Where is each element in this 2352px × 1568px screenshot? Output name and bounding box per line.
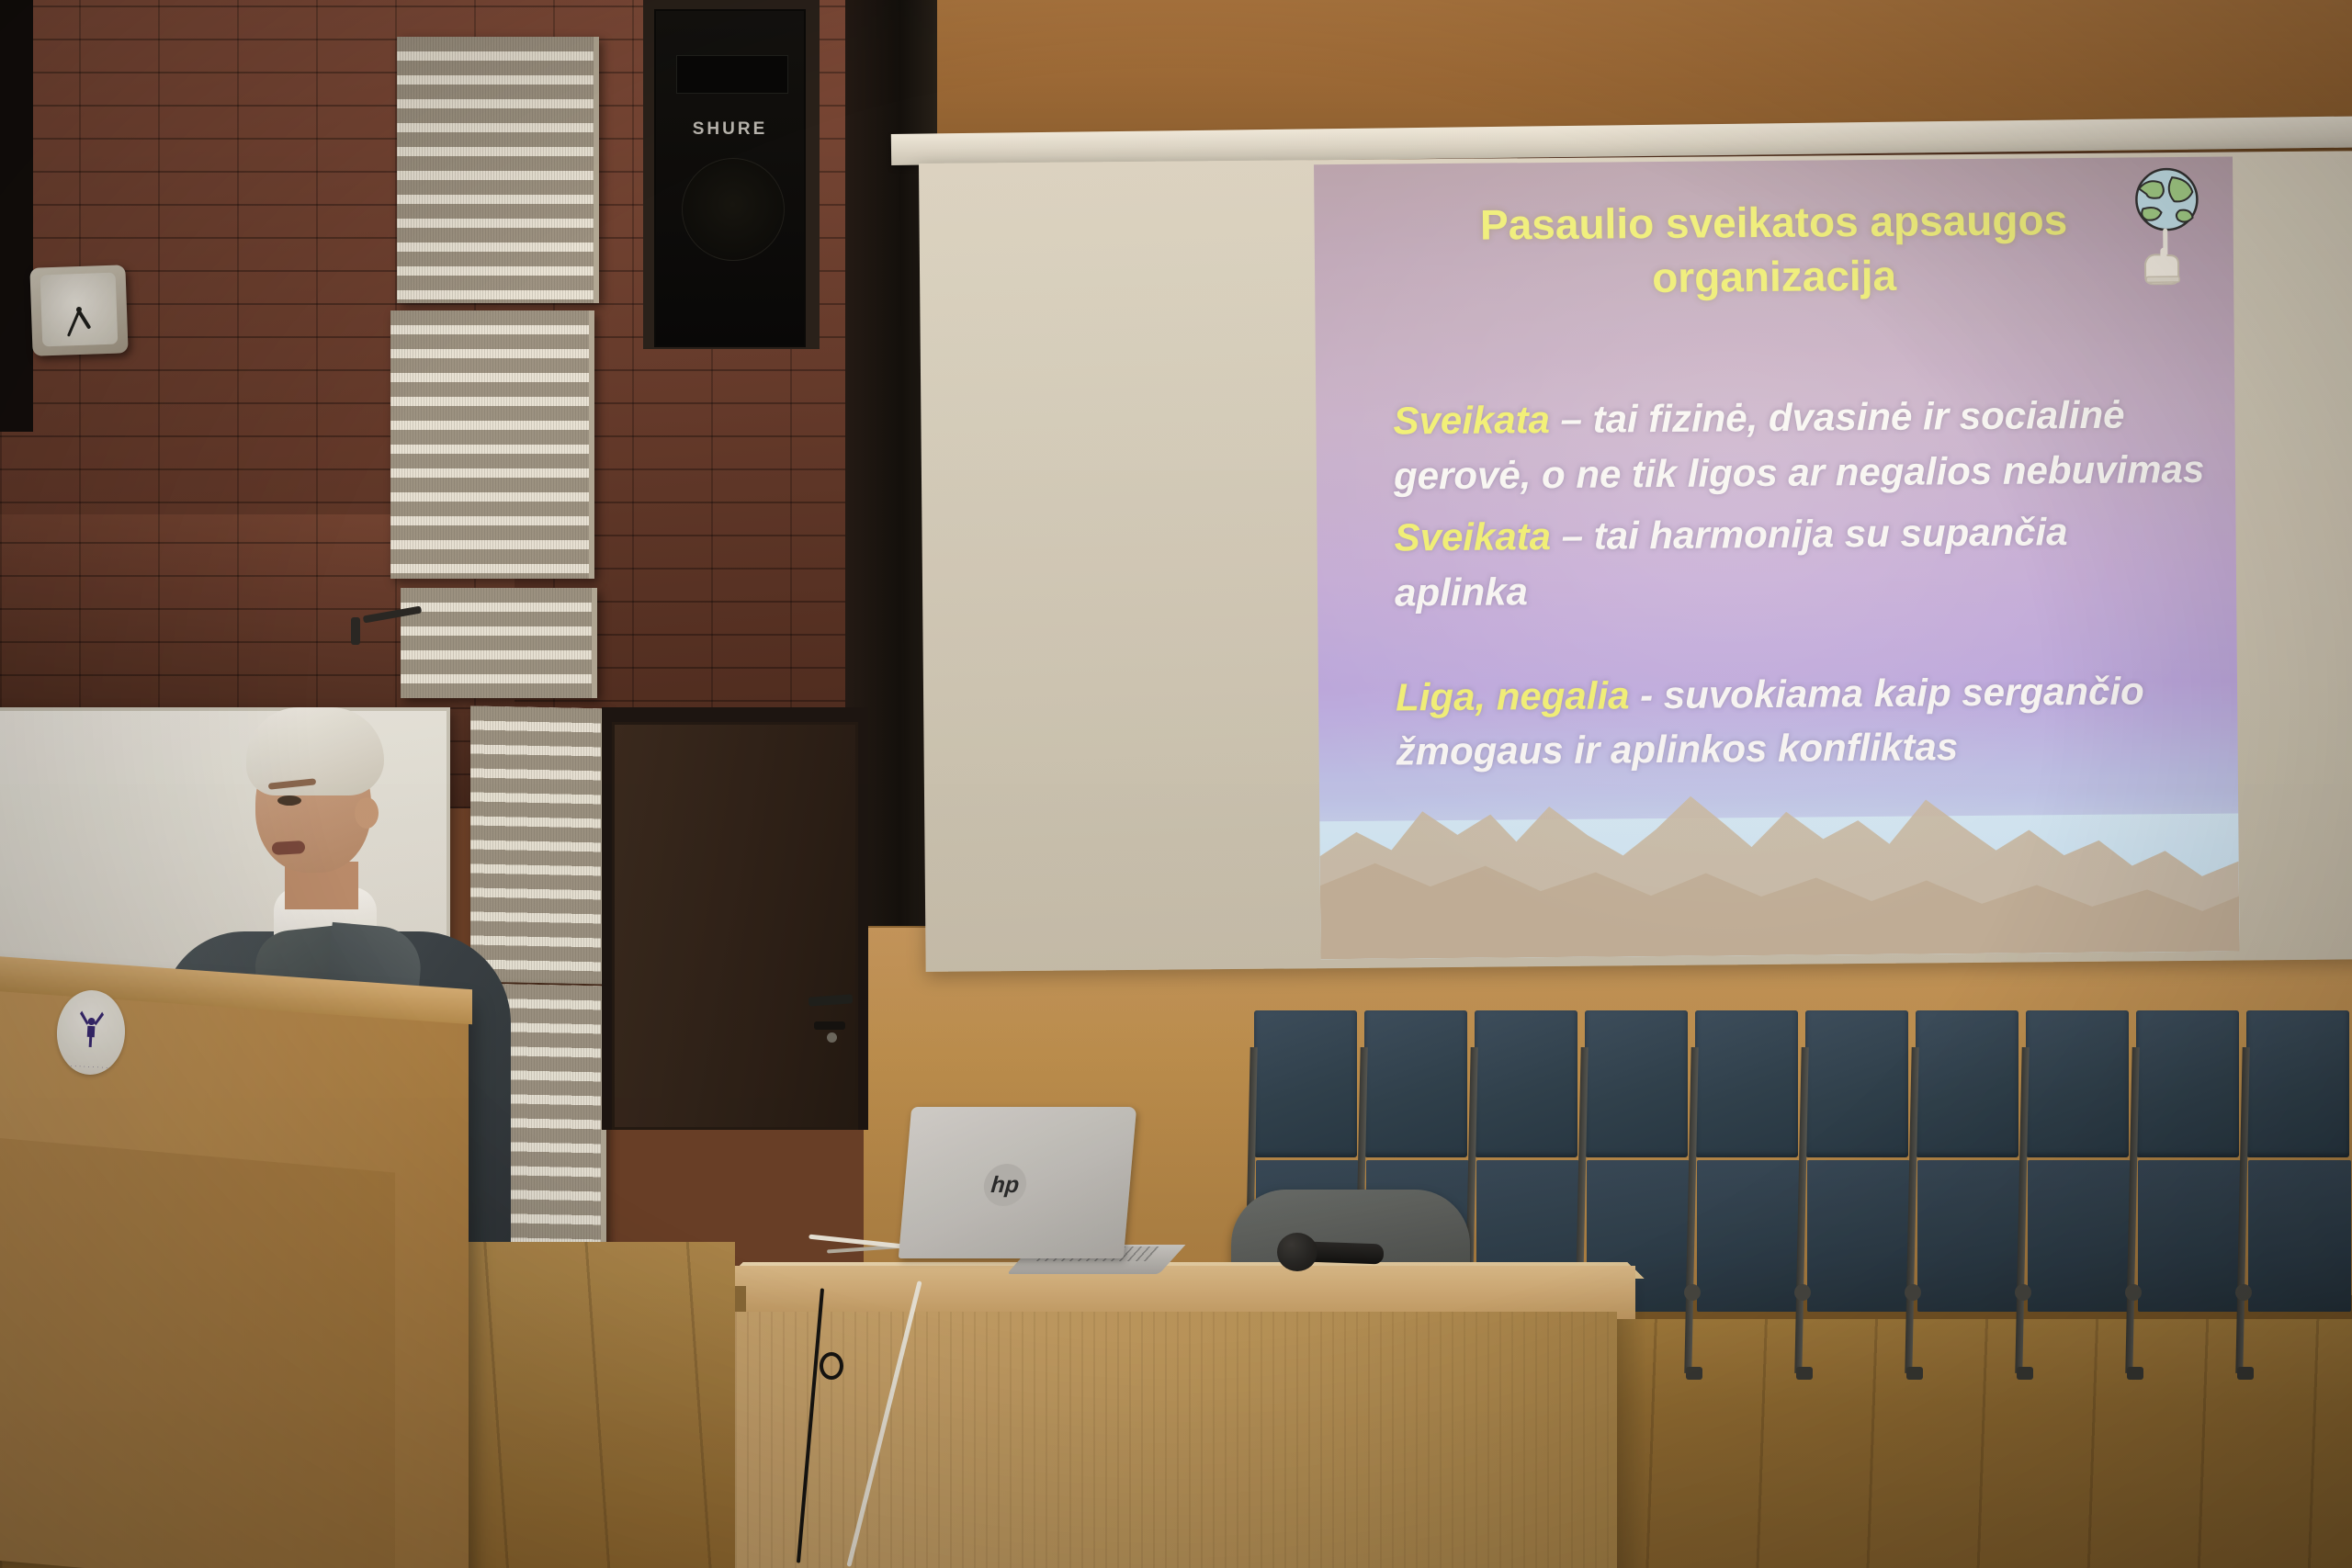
auditorium-seat[interactable] <box>2026 1010 2134 1304</box>
auditorium-seat[interactable] <box>1695 1010 1804 1304</box>
door-lock-icon <box>827 1032 837 1043</box>
person-eye <box>277 795 301 806</box>
seat-foot <box>2017 1367 2033 1380</box>
slide-keyword-2: Sveikata <box>1394 514 1551 558</box>
slide-keyword-3: Liga, negalia <box>1396 673 1630 718</box>
person-ear <box>355 797 379 829</box>
desk-wood-grain <box>735 1312 1617 1568</box>
acoustic-panel-icon <box>390 310 594 579</box>
seat-hinge <box>1905 1284 1921 1301</box>
door-handle[interactable] <box>814 1021 845 1030</box>
seat-foot <box>1686 1367 1702 1380</box>
seat-back <box>1805 1010 1908 1157</box>
desk-front-panel <box>735 1312 1617 1568</box>
seat-back <box>1364 1010 1467 1157</box>
seat-back <box>1475 1010 1577 1157</box>
cable-loop <box>820 1352 843 1380</box>
seat-hinge <box>2015 1284 2031 1301</box>
seat-back <box>2136 1010 2239 1157</box>
lecture-hall-photo: SHURE <box>0 0 2352 1568</box>
door-icon[interactable] <box>612 722 858 1130</box>
slide-title-line-1: Pasaulio sveikatos apsaugos <box>1378 192 2168 253</box>
wall-mic-bracket-post <box>351 617 360 645</box>
emblem-figure-icon <box>76 1010 106 1050</box>
slide-paragraph-3: Liga, negalia - suvokiama kaip sergančio… <box>1351 662 2212 779</box>
microphone-head <box>1277 1233 1317 1271</box>
seat-back <box>1585 1010 1688 1157</box>
seat-foot <box>1906 1367 1923 1380</box>
slide-title-line-2: organizacija <box>1379 246 2169 307</box>
laptop-icon[interactable]: hp <box>896 1107 1171 1300</box>
slide-title: Pasaulio sveikatos apsaugos organizacija <box>1314 192 2233 308</box>
clock-face <box>40 273 119 347</box>
slide-keyword-1: Sveikata <box>1393 398 1550 442</box>
seat-hinge <box>1794 1284 1811 1301</box>
clock-hour-hand <box>77 310 91 330</box>
seat-back <box>2246 1010 2349 1157</box>
projection-screen: Pasaulio sveikatos apsaugos organizacija… <box>919 151 2352 972</box>
loudspeaker-icon: SHURE <box>654 9 806 347</box>
acoustic-panel-icon <box>397 37 599 303</box>
seat-back <box>1916 1010 2018 1157</box>
seat-hinge <box>2125 1284 2142 1301</box>
speaker-woofer <box>682 158 785 261</box>
seat-pan <box>2028 1160 2131 1312</box>
auditorium-seat[interactable] <box>1475 1010 1583 1304</box>
seat-pan <box>1807 1160 1910 1312</box>
podium-lower <box>0 1134 395 1568</box>
wall-clock-icon <box>29 265 128 356</box>
seat-hinge <box>2235 1284 2252 1301</box>
seat-pan <box>2138 1160 2241 1312</box>
auditorium-seat[interactable] <box>2136 1010 2245 1304</box>
auditorium-seat[interactable] <box>1805 1010 1914 1304</box>
auditorium-seat[interactable] <box>1585 1010 1693 1304</box>
seat-foot <box>2237 1367 2254 1380</box>
auditorium-seat[interactable] <box>1916 1010 2024 1304</box>
wall-shadow-left <box>0 0 33 432</box>
clock-minute-hand <box>67 310 80 337</box>
slide-spacer <box>1351 620 2211 670</box>
seat-hinge <box>1684 1284 1701 1301</box>
acoustic-panel-icon <box>401 588 597 698</box>
seat-pan <box>2248 1160 2351 1312</box>
speaker-brand-label: SHURE <box>656 119 804 140</box>
projected-slide: Pasaulio sveikatos apsaugos organizacija… <box>1314 157 2240 960</box>
seat-foot <box>1796 1367 1813 1380</box>
slide-body: Sveikata – tai fizinė, dvasinė ir social… <box>1349 387 2212 787</box>
auditorium-seat[interactable] <box>2246 1010 2352 1304</box>
seat-back <box>2026 1010 2129 1157</box>
seat-foot <box>2127 1367 2143 1380</box>
seat-pan <box>1917 1160 2020 1312</box>
slide-paragraph-1: Sveikata – tai fizinė, dvasinė ir social… <box>1349 387 2210 503</box>
seat-back <box>1695 1010 1798 1157</box>
person-mouth <box>272 840 306 855</box>
microphone-icon[interactable] <box>1277 1231 1387 1273</box>
seat-pan <box>1697 1160 1800 1312</box>
slide-paragraph-2: Sveikata – tai harmonija su supančia apl… <box>1350 503 2211 620</box>
seat-back <box>1254 1010 1357 1157</box>
speaker-tweeter <box>676 55 788 94</box>
microphone-body <box>1306 1242 1385 1265</box>
